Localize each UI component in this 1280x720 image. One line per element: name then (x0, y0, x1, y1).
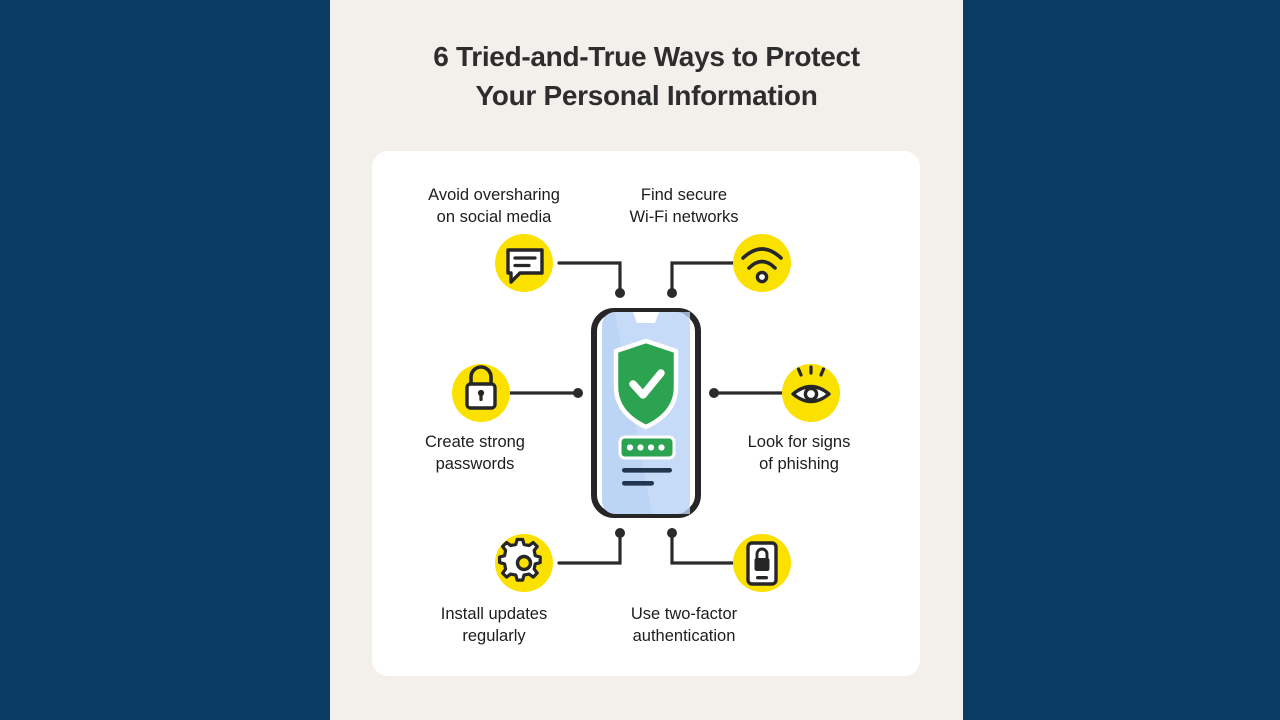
connector-two-factor-auth (672, 535, 733, 563)
label-secure-wifi: Find secure Wi-Fi networks (589, 184, 779, 229)
connector-dot-strong-passwords (573, 388, 583, 398)
label-line-2: of phishing (704, 453, 894, 475)
node-two-factor-auth (733, 534, 791, 592)
password-dot (658, 444, 664, 450)
page-title-line-2: Your Personal Information (330, 77, 963, 116)
connector-avoid-oversharing (559, 263, 620, 291)
phone-lock-icon (748, 543, 776, 584)
label-line-2: authentication (589, 625, 779, 647)
label-line-2: Wi-Fi networks (589, 206, 779, 228)
node-phishing-signs (782, 364, 840, 422)
screenshot-root: 6 Tried-and-True Ways to Protect Your Pe… (0, 0, 1280, 720)
label-line-1: Use two-factor (589, 603, 779, 625)
label-strong-passwords: Create strong passwords (380, 431, 570, 476)
page-title: 6 Tried-and-True Ways to Protect Your Pe… (330, 38, 963, 115)
phone-notch (633, 312, 659, 323)
connector-dot-secure-wifi (667, 288, 677, 298)
label-line-2: passwords (380, 453, 570, 475)
node-install-updates (495, 534, 553, 592)
shield-check-icon (616, 341, 676, 427)
connector-dot-avoid-oversharing (615, 288, 625, 298)
password-field (620, 437, 674, 458)
page-title-line-1: 6 Tried-and-True Ways to Protect (330, 38, 963, 77)
label-line-1: Install updates (399, 603, 589, 625)
node-strong-passwords (452, 364, 510, 422)
label-avoid-oversharing: Avoid oversharing on social media (399, 184, 589, 229)
label-line-1: Create strong (380, 431, 570, 453)
label-line-1: Avoid oversharing (399, 184, 589, 206)
label-line-2: on social media (399, 206, 589, 228)
label-line-1: Look for signs (704, 431, 894, 453)
node-secure-wifi (733, 234, 791, 292)
password-dot (648, 444, 654, 450)
phone-content-line-short (622, 481, 654, 486)
phone-content-line-long (622, 468, 672, 473)
password-dot (627, 444, 633, 450)
label-two-factor-auth: Use two-factor authentication (589, 603, 779, 648)
infographic-graphics (372, 151, 920, 676)
shield-outline (616, 341, 676, 427)
node-avoid-oversharing (495, 234, 553, 292)
infographic-card: Avoid oversharing on social media Find s… (372, 151, 920, 676)
protected-phone-illustration (594, 311, 698, 515)
connector-secure-wifi (672, 263, 733, 291)
connector-dot-two-factor-auth (667, 528, 677, 538)
label-line-2: regularly (399, 625, 589, 647)
connector-install-updates (559, 535, 620, 563)
gear-icon (500, 540, 541, 581)
right-sidebar-panel (963, 0, 1280, 720)
label-line-1: Find secure (589, 184, 779, 206)
password-dot (637, 444, 643, 450)
connector-dot-phishing-signs (709, 388, 719, 398)
left-sidebar-panel (0, 0, 330, 720)
label-phishing-signs: Look for signs of phishing (704, 431, 894, 476)
content-area: 6 Tried-and-True Ways to Protect Your Pe… (330, 0, 963, 720)
label-install-updates: Install updates regularly (399, 603, 589, 648)
connector-dot-install-updates (615, 528, 625, 538)
